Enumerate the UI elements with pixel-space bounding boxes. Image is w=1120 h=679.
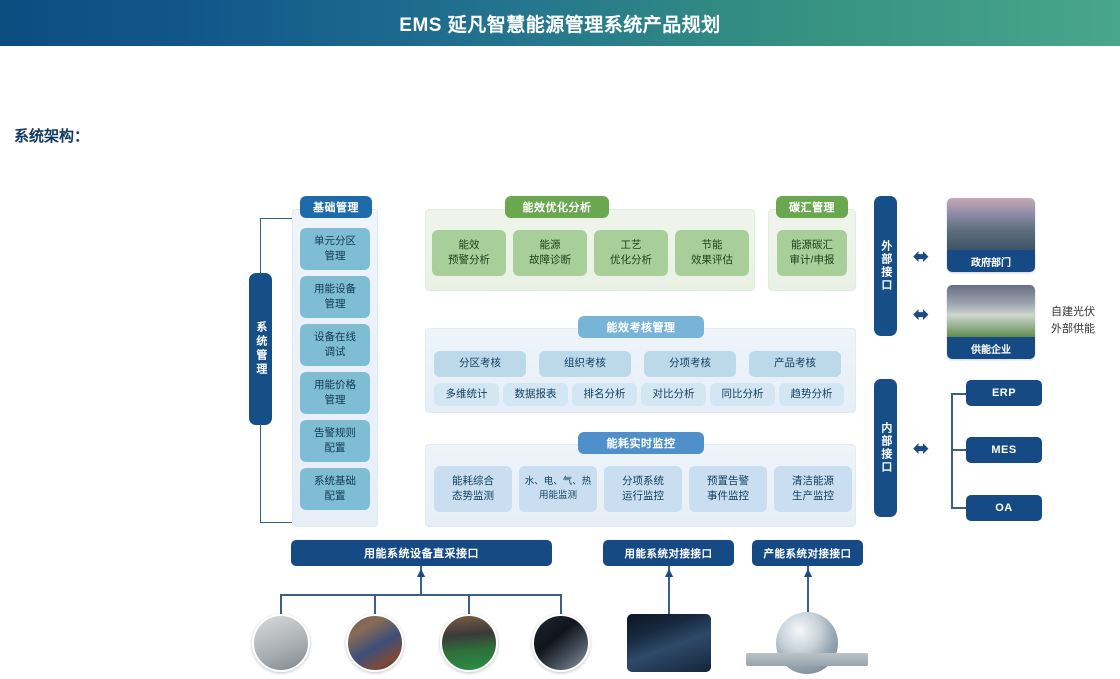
chip-line-1: 产品考核 [774,356,816,371]
interface-bar-energy-system[interactable]: 用能系统对接接口 [603,540,734,566]
card-erp[interactable]: ERP [966,380,1042,406]
card-mes[interactable]: MES [966,437,1042,463]
card-zone-assessment[interactable]: 分区考核 [434,351,526,377]
group-title-efficiency-assessment-label: 能效考核管理 [607,319,676,335]
group-title-carbon-management: 碳汇管理 [776,196,848,218]
chip-line-2: 配置 [325,489,346,504]
group-title-basic-management-label: 基础管理 [313,199,359,215]
note-self-built-pv-line1: 自建光伏 [1051,304,1120,321]
internal-bus-oa [951,507,967,509]
internal-arrow-icon: ⬌ [903,438,939,458]
interface-bar-production-system-label: 产能系统对接接口 [764,546,852,561]
arrow-up-production-icon: ▲ [797,564,819,580]
card-product-assessment[interactable]: 产品考核 [749,351,841,377]
card-clean-energy-monitor[interactable]: 清洁能源 生产监控 [774,466,852,512]
chip-line-1: 工艺 [621,238,642,253]
spine-system-management: 系统管理 [249,273,272,425]
switchgear-photo [252,614,310,672]
solar-sphere-base [746,653,868,666]
card-government-department[interactable]: 政府部门 [947,198,1035,272]
group-title-realtime-monitoring-label: 能耗实时监控 [607,435,676,451]
chip-line-1: 分区考核 [459,356,501,371]
card-comparison-analysis[interactable]: 对比分析 [641,383,706,406]
connector-drop-water [374,594,376,614]
chip-line-2: 用能监测 [539,489,577,503]
group-title-efficiency-optimization-label: 能效优化分析 [523,199,592,215]
bracket-line-top [260,218,261,274]
sidebar-item-system-config[interactable]: 系统基础 配置 [300,468,370,510]
external-arrow-government-icon: ⬌ [903,246,939,266]
chip-line-1: 同比分析 [722,387,764,402]
interface-bar-production-system[interactable]: 产能系统对接接口 [752,540,863,566]
connector-drop-elec [280,594,282,614]
card-mes-label: MES [991,444,1016,456]
spine-internal-interface: 内部接口 [874,379,897,517]
card-oa[interactable]: OA [966,495,1042,521]
group-title-efficiency-optimization: 能效优化分析 [505,196,609,218]
chip-line-2: 效果评估 [691,253,733,268]
card-subsystem-monitor[interactable]: 分项系统 运行监控 [604,466,682,512]
chip-line-2: 事件监控 [707,489,749,504]
chip-line-1: 排名分析 [584,387,626,402]
card-carbon-audit[interactable]: 能源碳汇 审计/申报 [777,230,847,276]
chip-line-2: 配置 [325,441,346,456]
chip-line-1: 数据报表 [515,387,557,402]
chip-line-2: 预警分析 [448,253,490,268]
card-erp-label: ERP [992,387,1016,399]
note-self-built-pv-line2: 外部供能 [1051,321,1120,338]
spine-system-management-label: 系统管理 [254,321,267,377]
interface-bar-direct-acquisition-label: 用能系统设备直采接口 [364,545,479,561]
bracket-line-top-h [260,218,292,219]
card-trend-analysis[interactable]: 趋势分析 [779,383,844,406]
chip-line-1: 设备在线 [314,330,356,345]
sidebar-item-unit-zone[interactable]: 单元分区 管理 [300,228,370,270]
group-title-basic-management: 基础管理 [300,196,372,218]
internal-bus-mes [951,449,967,451]
card-energy-saving-evaluation[interactable]: 节能 效果评估 [675,230,749,276]
chip-line-1: 用能价格 [314,378,356,393]
spine-external-interface: 外部接口 [874,196,897,336]
chip-line-1: 单元分区 [314,234,356,249]
interface-bar-direct-acquisition[interactable]: 用能系统设备直采接口 [291,540,552,566]
internal-bus-erp [951,393,967,395]
card-utility-monitor[interactable]: 水、电、气、热 用能监测 [519,466,597,512]
page-header: EMS 延凡智慧能源管理系统产品规划 [0,0,1120,46]
connector-drop-prod [560,594,562,614]
section-caption: 系统架构： [14,125,89,146]
card-process-optimization[interactable]: 工艺 优化分析 [594,230,668,276]
chip-line-1: 水、电、气、热 [525,475,592,489]
chip-line-1: 能耗综合 [452,474,494,489]
card-government-department-label: 政府部门 [947,250,1035,272]
chip-line-1: 清洁能源 [792,474,834,489]
chip-line-1: 用能设备 [314,282,356,297]
card-energy-supplier[interactable]: 供能企业 [947,285,1035,359]
connector-direct-bus [280,594,562,596]
arrow-up-energy-icon: ▲ [658,564,680,580]
interface-bar-energy-system-label: 用能系统对接接口 [625,546,713,561]
water-pump-room-photo [346,614,404,672]
government-building-photo [947,198,1035,250]
bracket-line-bottom-h [260,522,292,523]
chip-line-2: 管理 [325,393,346,408]
chip-line-2: 管理 [325,249,346,264]
diagram-canvas: 系统架构： 系统管理 基础管理 单元分区 管理 用能设备 管理 设备在线 调试 … [0,46,1120,679]
card-efficiency-warning[interactable]: 能效 预警分析 [432,230,506,276]
card-yoy-analysis[interactable]: 同比分析 [710,383,775,406]
card-data-report[interactable]: 数据报表 [503,383,568,406]
chip-line-2: 故障诊断 [529,253,571,268]
chip-line-1: 多维统计 [446,387,488,402]
arrow-up-direct-icon: ▲ [410,564,432,580]
card-energy-overview-monitor[interactable]: 能耗综合 态势监测 [434,466,512,512]
card-oa-label: OA [995,502,1013,514]
chip-line-2: 生产监控 [792,489,834,504]
chip-line-1: 能效 [459,238,480,253]
chip-line-1: 能源 [540,238,561,253]
chip-line-2: 审计/申报 [790,253,835,268]
chip-line-1: 告警规则 [314,426,356,441]
bracket-line-bottom [260,424,261,522]
chip-line-2: 管理 [325,297,346,312]
sidebar-item-energy-device[interactable]: 用能设备 管理 [300,276,370,318]
card-org-assessment[interactable]: 组织考核 [539,351,631,377]
card-item-assessment[interactable]: 分项考核 [644,351,736,377]
chip-line-1: 节能 [702,238,723,253]
card-ranking-analysis[interactable]: 排名分析 [572,383,637,406]
chiller-plant-photo [440,614,498,672]
group-title-carbon-management-label: 碳汇管理 [789,199,835,215]
chip-line-1: 分项考核 [669,356,711,371]
chip-line-2: 态势监测 [452,489,494,504]
group-title-efficiency-assessment: 能效考核管理 [578,316,704,338]
chip-line-1: 组织考核 [564,356,606,371]
internal-bus-vertical [951,393,953,509]
power-plant-photo [947,285,1035,337]
server-rack-photo [627,614,711,672]
chip-line-2: 优化分析 [610,253,652,268]
chip-line-1: 趋势分析 [791,387,833,402]
chip-line-2: 调试 [325,345,346,360]
chip-line-1: 系统基础 [314,474,356,489]
production-machine-photo [532,614,590,672]
spine-external-interface-label: 外部接口 [879,240,892,292]
chip-line-1: 对比分析 [653,387,695,402]
chip-line-1: 预置告警 [707,474,749,489]
note-self-built-pv: 自建光伏 外部供能 [1051,304,1120,337]
sidebar-item-energy-price[interactable]: 用能价格 管理 [300,372,370,414]
sidebar-item-alarm-rule[interactable]: 告警规则 配置 [300,420,370,462]
connector-drop-heat [468,594,470,614]
chip-line-1: 能源碳汇 [791,238,833,253]
chip-line-2: 运行监控 [622,489,664,504]
group-title-realtime-monitoring: 能耗实时监控 [578,432,704,454]
spine-internal-interface-label: 内部接口 [879,422,892,474]
card-energy-fault-diagnosis[interactable]: 能源 故障诊断 [513,230,587,276]
card-multidim-stats[interactable]: 多维统计 [434,383,499,406]
external-arrow-supplier-icon: ⬌ [903,304,939,324]
card-alarm-event-monitor[interactable]: 预置告警 事件监控 [689,466,767,512]
page-title: EMS 延凡智慧能源管理系统产品规划 [399,10,720,37]
sidebar-item-device-debug[interactable]: 设备在线 调试 [300,324,370,366]
chip-line-1: 分项系统 [622,474,664,489]
card-energy-supplier-label: 供能企业 [947,337,1035,359]
